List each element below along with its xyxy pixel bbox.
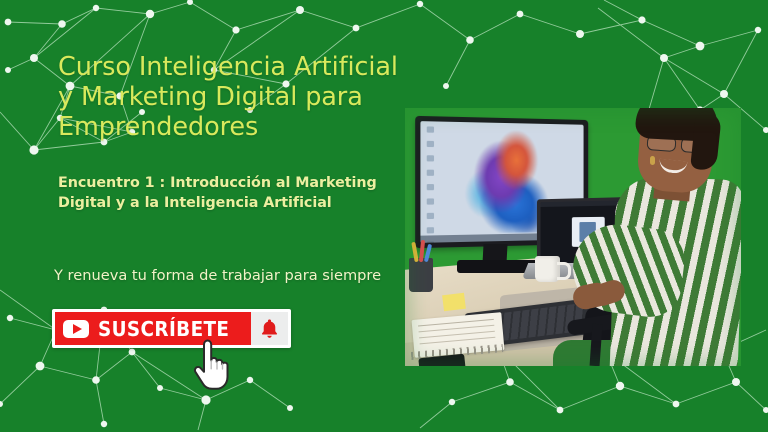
subscribe-button[interactable]: SUSCRÍBETE	[52, 309, 291, 348]
photo-mug-handle	[557, 262, 571, 280]
photo-woman-earring	[650, 156, 655, 165]
woman-at-desk-photo	[405, 108, 741, 366]
pointing-hand-cursor	[188, 338, 234, 394]
subscribe-button-label: SUSCRÍBETE	[98, 317, 229, 341]
notification-bell-button[interactable]	[251, 312, 288, 345]
notification-bell-icon	[260, 318, 279, 339]
page-title: Curso Inteligencia Artificial y Marketin…	[58, 52, 418, 142]
youtube-play-icon	[63, 320, 89, 338]
tagline: Y renueva tu forma de trabajar para siem…	[54, 266, 434, 286]
photo-sticky-note	[442, 293, 466, 312]
session-subtitle: Encuentro 1 : Introducción al Marketing …	[58, 174, 398, 213]
thumbnail-canvas: Curso Inteligencia Artificial y Marketin…	[0, 0, 768, 432]
